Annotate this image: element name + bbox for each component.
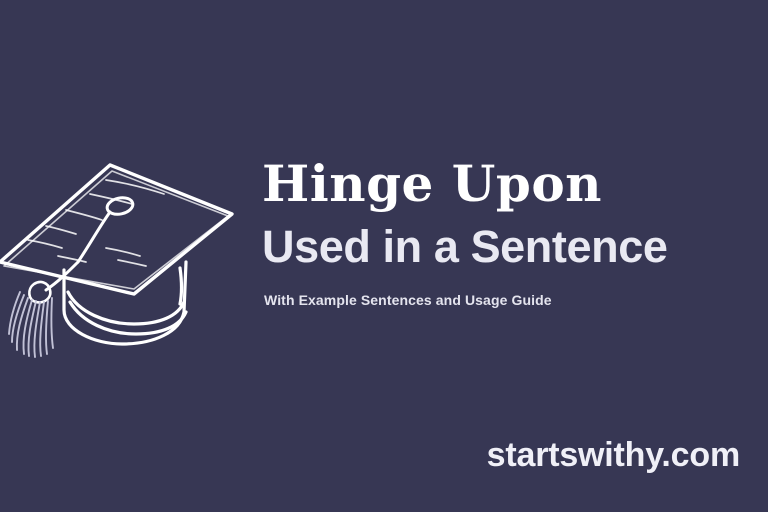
page-subtitle: Used in a Sentence	[262, 223, 762, 270]
graduation-cap-icon	[0, 142, 244, 362]
headline-block: Hinge Upon Used in a Sentence With Examp…	[262, 158, 762, 308]
promo-card: Hinge Upon Used in a Sentence With Examp…	[0, 0, 768, 512]
page-description: With Example Sentences and Usage Guide	[264, 292, 762, 308]
page-title: Hinge Upon	[262, 158, 762, 209]
brand-label: startswithy.com	[487, 436, 740, 475]
